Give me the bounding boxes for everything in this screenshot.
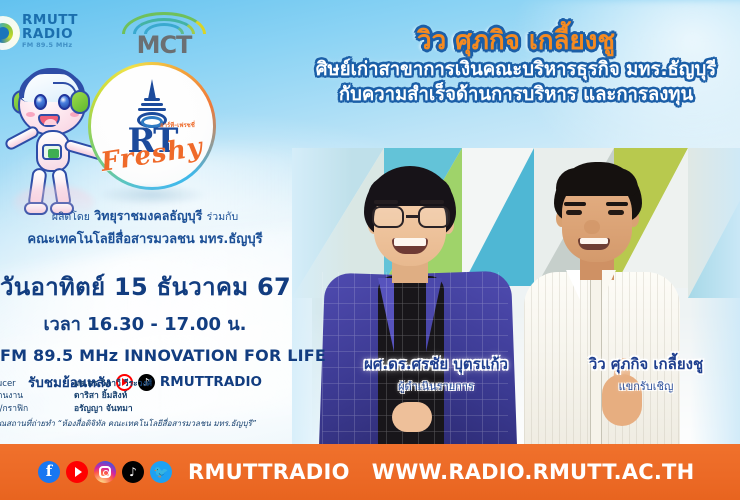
guest-eye-right (608, 210, 624, 215)
rt-freshy-logo: RT อาร์ที–เฟรชชี่ Freshy (88, 62, 216, 190)
produced-by-line: ผลิตโดย วิทยุราชมงคลธัญบุรี ร่วมกับ (0, 206, 290, 226)
host-hands (392, 402, 432, 432)
mct-logo-text: MCT (112, 33, 216, 57)
produced-by-org: วิทยุราชมงคลธัญบุรี (94, 208, 202, 223)
tiktok-icon[interactable]: ♪ (122, 461, 144, 483)
host-brow-left (374, 200, 398, 204)
footer-website[interactable]: WWW.RADIO.RMUTT.AC.TH (372, 460, 695, 484)
credit-label: ประสานงาน (0, 390, 74, 402)
youtube-icon[interactable] (66, 461, 88, 483)
guest-collar-right (602, 270, 616, 300)
title-guest-name: วิว ศุภกิจ เกลี้ยงชู (292, 26, 740, 57)
guest-smile (578, 238, 610, 250)
mascot-cheek-left (26, 112, 35, 117)
person-guest-figure (506, 162, 702, 448)
nameplate-guest-role: แขกรับเชิญ (552, 377, 740, 395)
partner-org: คณะเทคโนโลยีสื่อสารมวลชน มทร.ธัญบุรี (0, 228, 290, 249)
nameplate-host: ผศ.ดร.ศรชัย บุตรแก้ว ผู้ดำเนินรายการ (336, 352, 536, 395)
twitter-icon[interactable]: 🐦 (150, 461, 172, 483)
rt-logo-shadow (96, 184, 208, 206)
credit-value: ดาริสา ยิ้มสิงห์ (74, 390, 127, 402)
logo-row: RMUTT RADIO FM 89.5 MHz MCT (0, 8, 230, 60)
rmutt-radio-line2: RADIO (22, 28, 78, 42)
credit-row: Producer ผศ.ดร.วิภาวี วีระวงศ์ (0, 378, 298, 390)
title-subtitle-line2: กับความสำเร็จด้านการบริหาร และการลงทุน (292, 84, 740, 106)
host-brow-right (420, 200, 444, 204)
credit-row: ประสานงาน ดาริสา ยิ้มสิงห์ (0, 390, 298, 402)
guest-photo (292, 148, 740, 448)
rt-logo-thai-tag: อาร์ที–เฟรชชี่ (160, 120, 195, 130)
nameplate-guest: วิว ศุภกิจ เกลี้ยงชู แขกรับเชิญ (552, 352, 740, 395)
guest-brow-left (564, 202, 586, 206)
broadcast-time: เวลา 16.30 - 17.00 น. (0, 309, 290, 338)
nameplate-guest-name: วิว ศุภกิจ เกลี้ยงชู (552, 352, 740, 376)
rmutt-radio-logo-text: RMUTT RADIO FM 89.5 MHz (22, 14, 78, 49)
guest-brow-right (606, 202, 628, 206)
title-subtitle-line1: ศิษย์เก่าสาขาการเงินคณะบริหารธุรกิจ มทร.… (292, 59, 740, 81)
footer-handle[interactable]: RMUTTRADIO (188, 460, 350, 484)
broadcast-date: วันอาทิตย์ 15 ธันวาคม 67 (0, 267, 290, 306)
credit-row: ตัดต่อ/กราฟิก อรัญญา จันทมา (0, 403, 298, 415)
credit-label: ตัดต่อ/กราฟิก (0, 403, 74, 415)
guest-eye-left (566, 210, 582, 215)
produced-by-prefix: ผลิตโดย (52, 211, 90, 223)
host-glasses-icon (370, 206, 452, 228)
rmutt-radio-logo: RMUTT RADIO FM 89.5 MHz (0, 12, 106, 58)
guest-nose (584, 220, 600, 234)
credit-label: Producer (0, 378, 74, 390)
rmutt-radio-mark-icon (0, 16, 20, 50)
broadcast-info: ผลิตโดย วิทยุราชมงคลธัญบุรี ร่วมกับ คณะเ… (0, 206, 290, 393)
credit-value: อรัญญา จันทมา (74, 403, 133, 415)
person-host-figure (320, 166, 510, 448)
mct-arcs-icon (119, 8, 209, 34)
guest-collar-left (566, 270, 580, 300)
guest-hair-front (556, 168, 638, 196)
nameplate-host-name: ผศ.ดร.ศรชัย บุตรแก้ว (336, 352, 536, 376)
nameplate-host-role: ผู้ดำเนินรายการ (336, 377, 536, 395)
mascot-badge (42, 144, 62, 160)
instagram-icon[interactable] (94, 461, 116, 483)
poster-canvas: RMUTT RADIO FM 89.5 MHz MCT (0, 0, 740, 500)
episode-title-block: วิว ศุภกิจ เกลี้ยงชู ศิษย์เก่าสาขาการเงิ… (292, 26, 740, 105)
facebook-icon[interactable]: f (38, 461, 60, 483)
mascot-headphone-cup-right-icon (70, 90, 90, 114)
credits-thanks: ขอบคุณสถานที่ถ่ายทำ “ห้องสื่อดิจิทัล คณะ… (0, 417, 298, 430)
footer-bar: f ♪ 🐦 RMUTTRADIO WWW.RADIO.RMUTT.AC.TH (0, 444, 740, 500)
broadcast-frequency: FM 89.5 MHz INNOVATION FOR LIFE (0, 346, 290, 365)
produced-by-suffix: ร่วมกับ (207, 211, 238, 223)
credits-block: Producer ผศ.ดร.วิภาวี วีระวงศ์ ประสานงาน… (0, 378, 298, 430)
mct-logo: MCT (112, 8, 216, 62)
rmutt-radio-frequency: FM 89.5 MHz (22, 42, 78, 49)
social-links: f ♪ 🐦 (38, 461, 172, 483)
credit-value: ผศ.ดร.วิภาวี วีระวงศ์ (74, 378, 152, 390)
